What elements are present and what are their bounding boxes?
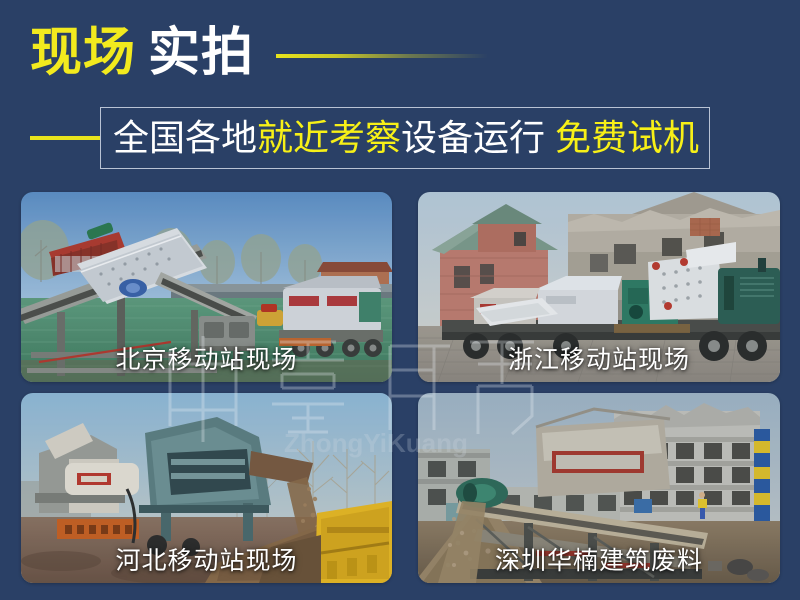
- photo-card[interactable]: 浙江移动站现场: [418, 192, 780, 382]
- promo-banner: 现场 实拍 全国各地 就近考察 设备运行 免费试机: [0, 0, 800, 600]
- photo-caption: 浙江移动站现场: [418, 340, 780, 376]
- photo-card[interactable]: 深圳华楠建筑废料: [418, 393, 780, 583]
- photo-caption: 河北移动站现场: [21, 541, 392, 577]
- photo-grid: 北京移动站现场: [0, 0, 800, 600]
- photo-card[interactable]: 河北移动站现场: [21, 393, 392, 583]
- photo-caption: 深圳华楠建筑废料: [418, 541, 780, 577]
- photo-card[interactable]: 北京移动站现场: [21, 192, 392, 382]
- photo-caption: 北京移动站现场: [21, 340, 392, 376]
